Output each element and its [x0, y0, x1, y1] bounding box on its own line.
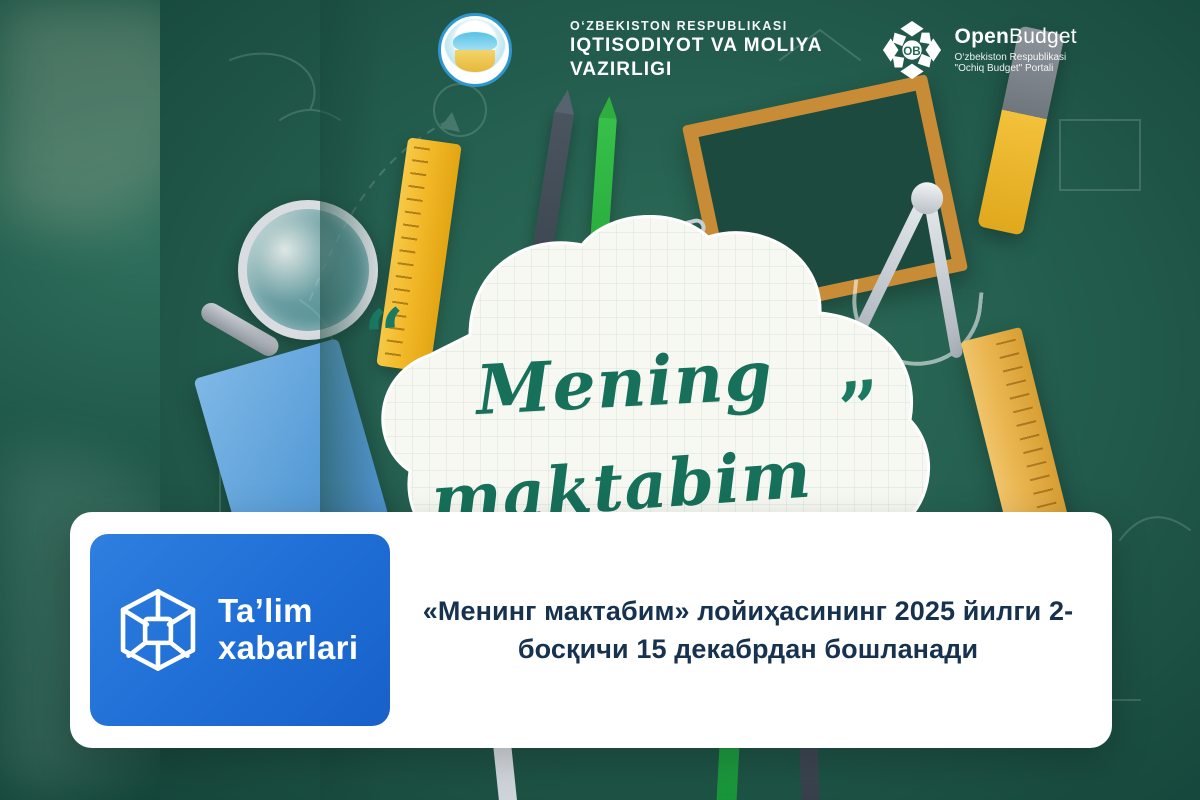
openbudget-logo: OB OpenBudget O‘zbekiston Respublikasi "…	[881, 19, 1077, 81]
openbudget-sub1: O‘zbekiston Respublikasi	[955, 52, 1077, 64]
badge-label: Ta’lim xabarlari	[218, 593, 358, 667]
poster-title-line1: Mening	[474, 336, 775, 431]
openbudget-sub2: "Ochiq Budget" Portali	[955, 63, 1077, 75]
badge-line2: xabarlari	[218, 630, 358, 667]
poster-canvas: Mening maktabim “ ” O‘ZBEKISTON RESPUBLI…	[0, 0, 1200, 800]
openbudget-logo-icon: OB	[881, 19, 943, 81]
ministry-line1: O‘ZBEKISTON RESPUBLIKASI	[570, 19, 823, 34]
ministry-name: O‘ZBEKISTON RESPUBLIKASI IQTISODIYOT VA …	[570, 19, 823, 81]
news-headline: «Менинг мактабим» лойиҳасининг 2025 йилг…	[390, 592, 1112, 669]
quote-open-mark: “	[361, 291, 411, 380]
quote-close-mark: ”	[834, 363, 884, 452]
badge-line1: Ta’lim	[218, 593, 358, 630]
svg-text:OB: OB	[903, 45, 920, 58]
ministry-line2: IQTISODIYOT VA MOLIYA	[570, 34, 823, 57]
cube-icon	[112, 584, 204, 676]
poster-header: O‘ZBEKISTON RESPUBLIKASI IQTISODIYOT VA …	[320, 0, 1200, 100]
openbudget-text: OpenBudget O‘zbekiston Respublikasi "Och…	[955, 25, 1077, 74]
news-card: Ta’lim xabarlari «Менинг мактабим» лойиҳ…	[70, 512, 1112, 748]
openbudget-name-bold: Open	[955, 25, 1009, 48]
ministry-line3: VAZIRLIGI	[570, 58, 823, 81]
education-news-badge[interactable]: Ta’lim xabarlari	[90, 534, 390, 726]
uzbekistan-state-emblem-icon	[438, 13, 512, 87]
openbudget-name-light: Budget	[1009, 25, 1077, 48]
